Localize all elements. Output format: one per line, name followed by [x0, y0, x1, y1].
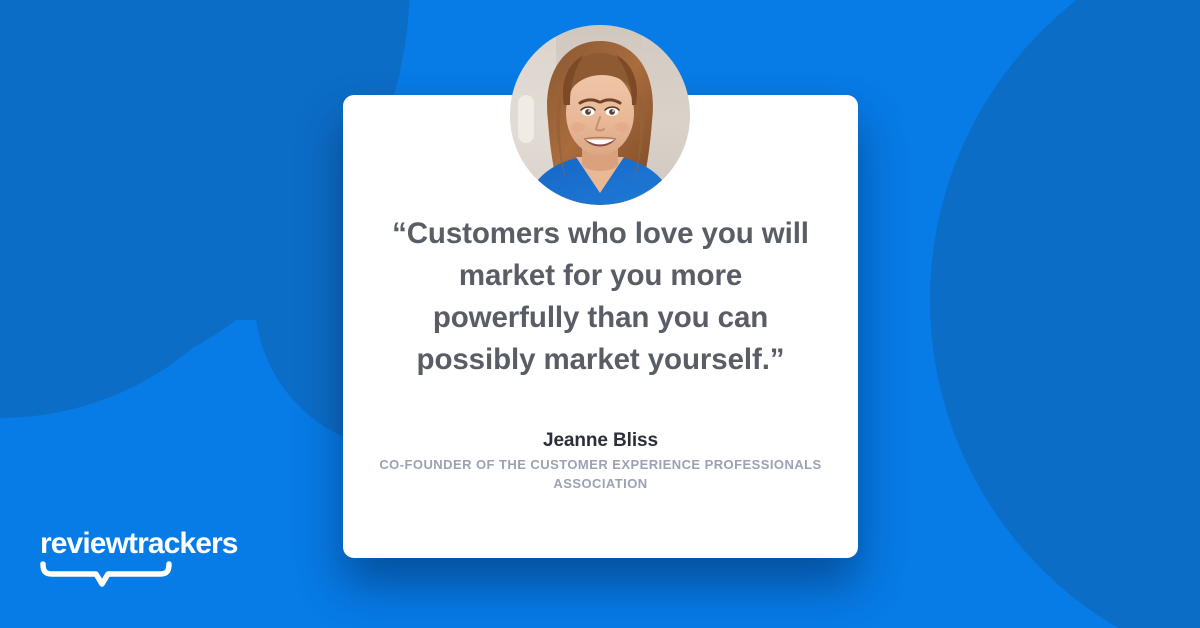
author-name: Jeanne Bliss: [379, 429, 822, 453]
attribution: Jeanne Bliss CO-FOUNDER OF THE CUSTOMER …: [379, 429, 822, 493]
decorative-circle-right: [930, 0, 1200, 628]
logo: reviewtrackers: [40, 528, 280, 590]
decorative-shape-mid-left: [0, 118, 300, 418]
quote-text: “Customers who love you will market for …: [379, 213, 822, 381]
quote-graphic-canvas: “Customers who love you will market for …: [0, 0, 1200, 628]
logo-wordmark: reviewtrackers: [40, 528, 280, 560]
author-role: CO-FOUNDER OF THE CUSTOMER EXPERIENCE PR…: [379, 456, 822, 493]
avatar-photo-icon: [510, 25, 690, 205]
speech-bubble-underline-icon: [40, 561, 172, 587]
avatar: [510, 25, 690, 205]
